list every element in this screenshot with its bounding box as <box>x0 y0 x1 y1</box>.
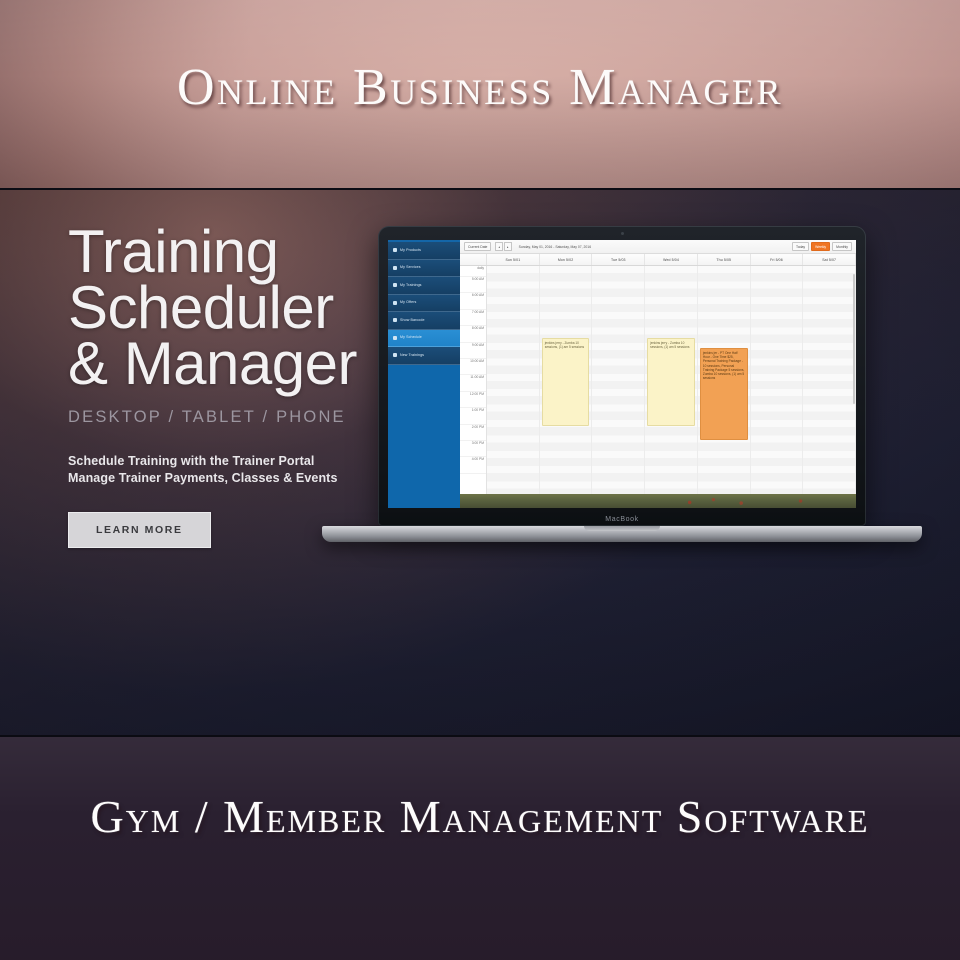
calendar-event[interactable]: jenkins jer - PT One Half Hour - One Tim… <box>700 348 748 440</box>
hero-copy: Training Scheduler & Manager DESKTOP / T… <box>68 224 398 548</box>
time-label: 7:00 AM <box>460 310 486 326</box>
time-label: 2:00 PM <box>460 425 486 441</box>
bottom-banner: Gym / Member Management Software <box>0 735 960 960</box>
sidebar-filler <box>388 365 460 509</box>
day-column[interactable] <box>751 266 804 494</box>
promo-slide: Online Business Manager Training Schedul… <box>0 0 960 960</box>
hero-description-line1: Schedule Training with the Trainer Porta… <box>68 453 398 470</box>
day-header: Sun 5/01 <box>487 254 540 265</box>
time-gutter: daily5:00 AM6:00 AM7:00 AM8:00 AM9:00 AM… <box>460 266 487 494</box>
laptop-screen: My ProductsMy ServicesMy TrainingsMy Off… <box>388 240 856 508</box>
calendar-grid: daily5:00 AM6:00 AM7:00 AM8:00 AM9:00 AM… <box>460 266 856 494</box>
day-header: Thu 5/05 <box>698 254 751 265</box>
sidebar-item-label: My Schedule <box>400 335 422 340</box>
sidebar-item-new-trainings[interactable]: New Trainings <box>388 347 460 365</box>
sidebar-item-my-products[interactable]: My Products <box>388 242 460 260</box>
view-switcher: Today Weekly Monthly <box>792 242 852 251</box>
sidebar-item-my-schedule[interactable]: My Schedule <box>388 330 460 348</box>
day-column[interactable]: jenkins jer - PT One Half Hour - One Tim… <box>698 266 751 494</box>
learn-more-button[interactable]: LEARN MORE <box>68 512 211 548</box>
sidebar-item-label: Show Barcode <box>400 318 425 323</box>
sidebar-item-label: New Trainings <box>400 353 424 358</box>
time-label: 3:00 PM <box>460 441 486 457</box>
hero-description: Schedule Training with the Trainer Porta… <box>68 453 398 486</box>
date-range-label: Sunday, May 01, 2016 - Saturday, May 07,… <box>519 245 591 249</box>
time-label: 10:00 AM <box>460 359 486 375</box>
calendar-day-headers: Sun 5/01Mon 5/02Tue 5/03Wed 5/04Thu 5/05… <box>460 254 856 266</box>
weekly-button[interactable]: Weekly <box>811 242 830 251</box>
calendar-event[interactable]: jenkins jerry - Zumba 10 sessions, (1) a… <box>542 338 590 426</box>
time-label: 9:00 AM <box>460 343 486 359</box>
day-header: Fri 5/06 <box>751 254 804 265</box>
sidebar-item-my-trainings[interactable]: My Trainings <box>388 277 460 295</box>
sidebar-item-label: My Products <box>400 248 421 253</box>
sidebar-item-show-barcode[interactable]: Show Barcode <box>388 312 460 330</box>
hero-slider: Training Scheduler & Manager DESKTOP / T… <box>0 188 960 735</box>
page-title: Online Business Manager <box>0 58 960 118</box>
day-columns: jenkins jerry - Zumba 10 sessions, (1) a… <box>487 266 856 494</box>
next-date-icon[interactable]: ▸ <box>504 242 512 251</box>
time-label: 8:00 AM <box>460 326 486 342</box>
sidebar-item-label: My Offers <box>400 300 416 305</box>
time-label: 12:00 PM <box>460 392 486 408</box>
time-label: daily <box>460 266 486 277</box>
laptop-lid: My ProductsMy ServicesMy TrainingsMy Off… <box>378 226 866 526</box>
day-column[interactable]: jenkins jerry - Zumba 10 sessions, (1) a… <box>540 266 593 494</box>
day-header: Mon 5/02 <box>540 254 593 265</box>
sidebar-item-my-offers[interactable]: My Offers <box>388 295 460 313</box>
date-nav[interactable]: ◂ ▸ <box>495 242 511 251</box>
bottom-title: Gym / Member Management Software <box>0 789 960 845</box>
sidebar-item-label: My Services <box>400 265 421 270</box>
app-main: Current Date ◂ ▸ Sunday, May 01, 2016 - … <box>460 240 856 508</box>
hero-description-line2: Manage Trainer Payments, Classes & Event… <box>68 470 398 487</box>
time-label: 5:00 AM <box>460 277 486 293</box>
day-header: Wed 5/04 <box>645 254 698 265</box>
time-label: 1:00 PM <box>460 408 486 424</box>
sidebar-item-label: My Trainings <box>400 283 422 288</box>
laptop-mockup: My ProductsMy ServicesMy TrainingsMy Off… <box>322 226 922 735</box>
decorative-photo-strip <box>460 494 856 508</box>
hero-heading: Training Scheduler & Manager <box>68 224 398 392</box>
monthly-button[interactable]: Monthly <box>832 242 852 251</box>
hero-heading-line2: Scheduler <box>68 280 398 336</box>
device-label: MacBook <box>378 516 866 523</box>
webcam-icon <box>621 232 624 235</box>
top-banner: Online Business Manager <box>0 0 960 188</box>
day-column[interactable] <box>803 266 856 494</box>
today-button[interactable]: Today <box>792 242 809 251</box>
day-header: Tue 5/03 <box>592 254 645 265</box>
calendar-toolbar: Current Date ◂ ▸ Sunday, May 01, 2016 - … <box>460 240 856 254</box>
prev-date-icon[interactable]: ◂ <box>495 242 503 251</box>
laptop-base <box>322 526 922 542</box>
hero-heading-line3: & Manager <box>68 336 398 392</box>
hero-subheading: DESKTOP / TABLET / PHONE <box>68 408 398 427</box>
app-sidebar: My ProductsMy ServicesMy TrainingsMy Off… <box>388 240 460 508</box>
hero-heading-line1: Training <box>68 224 398 280</box>
day-header: Sat 5/07 <box>803 254 856 265</box>
current-date-button[interactable]: Current Date <box>464 242 491 251</box>
header-gutter <box>460 254 487 265</box>
time-label: 11:00 AM <box>460 375 486 391</box>
calendar-scrollbar[interactable] <box>853 274 856 404</box>
sidebar-item-my-services[interactable]: My Services <box>388 260 460 278</box>
time-label: 6:00 AM <box>460 293 486 309</box>
time-label: 4:00 PM <box>460 457 486 473</box>
calendar-event[interactable]: jenkins jerry - Zumba 10 sessions, (1) a… <box>647 338 695 426</box>
day-column[interactable] <box>592 266 645 494</box>
day-column[interactable] <box>487 266 540 494</box>
day-column[interactable]: jenkins jerry - Zumba 10 sessions, (1) a… <box>645 266 698 494</box>
